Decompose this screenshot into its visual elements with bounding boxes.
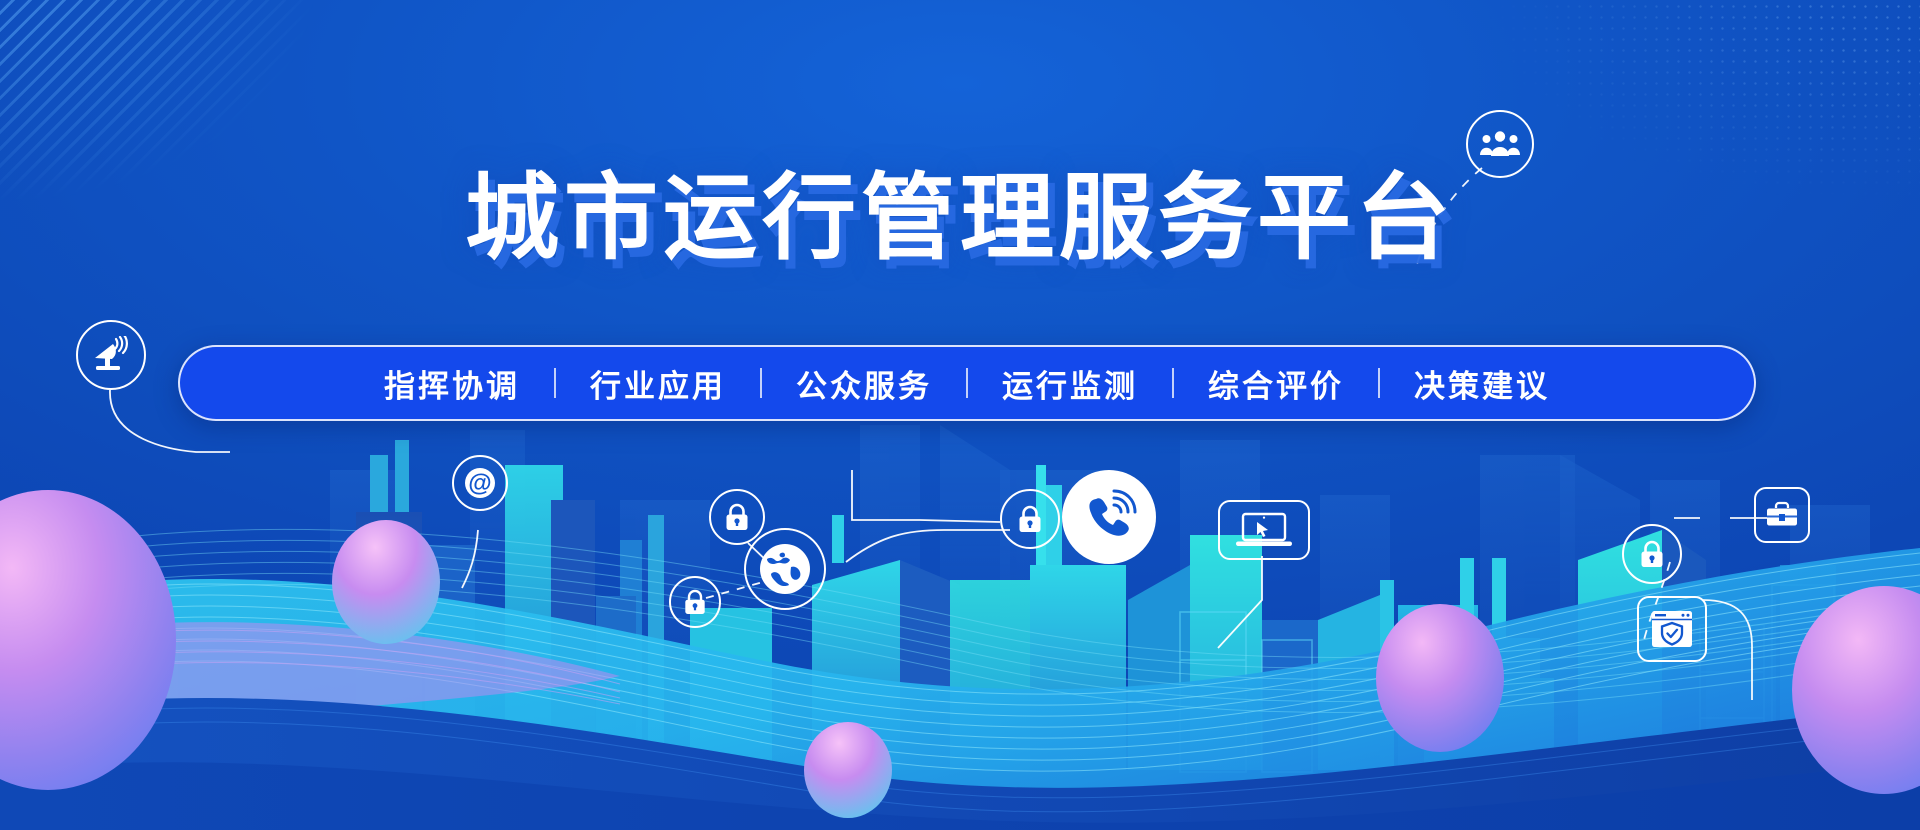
briefcase-badge[interactable] — [1754, 487, 1810, 543]
nav-item-industry-application[interactable]: 行业应用 — [556, 361, 760, 406]
lock-badge-3[interactable] — [1000, 489, 1060, 549]
lock-badge-4[interactable] — [1622, 524, 1682, 584]
lock-badge-2[interactable] — [669, 576, 721, 628]
lock-icon — [669, 576, 721, 628]
globe-badge[interactable] — [744, 528, 826, 610]
lock-icon — [1622, 524, 1682, 584]
nav-item-comprehensive-evaluation[interactable]: 综合评价 — [1174, 361, 1378, 406]
browser-shield-badge[interactable] — [1637, 596, 1707, 662]
phone-signal-icon — [1062, 470, 1156, 564]
nav-item-public-service[interactable]: 公众服务 — [762, 361, 966, 406]
nav-item-operation-monitoring[interactable]: 运行监测 — [968, 361, 1172, 406]
at-sign-badge[interactable]: @ — [452, 455, 508, 511]
main-navigation: 指挥协调 行业应用 公众服务 运行监测 综合评价 决策建议 — [178, 345, 1756, 421]
browser-shield-icon — [1637, 596, 1707, 662]
phone-signal-badge[interactable] — [1062, 470, 1156, 564]
globe-icon — [744, 528, 826, 610]
city-operation-banner: 城市运行管理服务平台 指挥协调 行业应用 公众服务 运行监测 综合评价 决策建议 — [0, 0, 1920, 830]
nav-item-decision-suggestion[interactable]: 决策建议 — [1380, 361, 1584, 406]
nav-item-command-coordination[interactable]: 指挥协调 — [350, 361, 554, 406]
briefcase-icon — [1754, 487, 1810, 543]
people-group-badge[interactable] — [1466, 110, 1534, 178]
people-group-icon — [1466, 110, 1534, 178]
nav-pill: 指挥协调 行业应用 公众服务 运行监测 综合评价 决策建议 — [178, 345, 1756, 421]
satellite-dish-badge[interactable] — [76, 320, 146, 390]
page-title: 城市运行管理服务平台 — [0, 168, 1920, 268]
svg-text:@: @ — [468, 470, 491, 497]
laptop-cursor-badge[interactable] — [1218, 500, 1310, 560]
laptop-cursor-icon — [1218, 500, 1310, 560]
satellite-dish-icon — [76, 320, 146, 390]
lock-icon — [1000, 489, 1060, 549]
at-sign-icon: @ — [452, 455, 508, 511]
